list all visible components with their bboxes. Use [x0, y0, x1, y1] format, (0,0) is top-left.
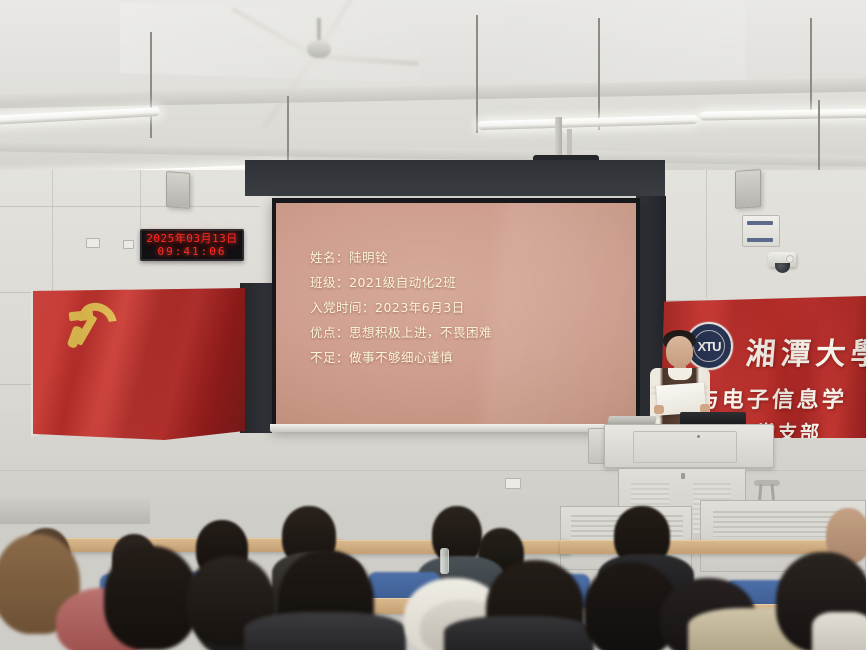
student-hoodie [244, 612, 406, 650]
ceiling-fan-icon [245, 18, 395, 90]
slide-line-name: 姓名：陆明铨 [310, 251, 610, 265]
power-outlet-3[interactable] [505, 478, 521, 489]
classroom-scene: 2025年03月13日 09:41:06 姓名：陆明铨 班级：2021级自动化2… [0, 0, 866, 650]
slide-line-weaknesses: 不足：做事不够细心谨慎 [310, 351, 610, 365]
student-head [104, 546, 198, 650]
rear-wall-ledge [0, 498, 150, 524]
ceiling [0, 0, 866, 178]
communist-party-flag [33, 288, 245, 440]
water-bottle [440, 548, 449, 574]
clock-time: 09:41:06 [158, 245, 227, 258]
power-outlet-1[interactable] [86, 238, 100, 248]
wall-speaker-right [735, 169, 761, 209]
wall-speaker-left [166, 171, 190, 209]
slide-line-class: 班级：2021级自动化2班 [310, 276, 610, 290]
blackboard-top-band [245, 160, 665, 196]
screen-bottom-rail [270, 424, 642, 432]
slide-text-block: 姓名：陆明铨 班级：2021级自动化2班 入党时间：2023年6月3日 优点：思… [310, 251, 610, 365]
power-outlet-2[interactable] [123, 240, 134, 249]
projection-screen: 姓名：陆明铨 班级：2021级自动化2班 入党时间：2023年6月3日 优点：思… [276, 203, 636, 425]
slide-line-join-date: 入党时间：2023年6月3日 [310, 301, 610, 315]
clock-date: 2025年03月13日 [146, 232, 237, 245]
ceiling-beam-front [0, 78, 866, 109]
student-shoulders [812, 612, 866, 650]
air-conditioner-panel[interactable] [742, 215, 780, 247]
lectern-top [604, 424, 774, 468]
student-shoulders [444, 616, 594, 650]
slide-line-strengths: 优点：思想积极上进，不畏困难 [310, 326, 610, 340]
presenter-head [666, 336, 693, 367]
led-wall-clock: 2025年03月13日 09:41:06 [140, 229, 244, 261]
dome-security-camera-icon [768, 252, 796, 276]
